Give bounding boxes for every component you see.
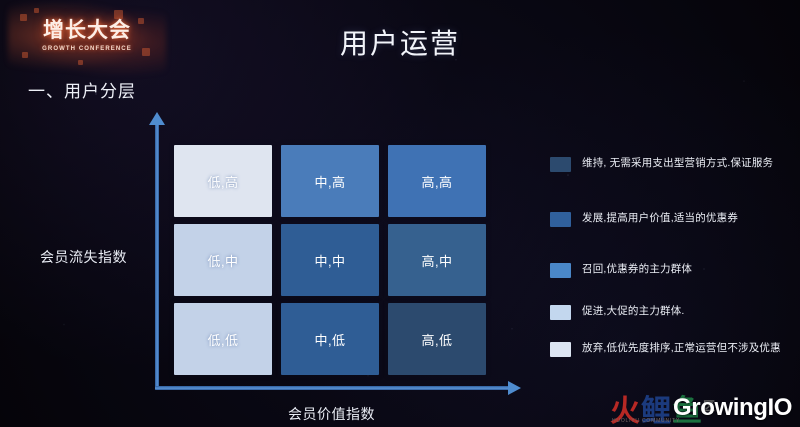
- watermark-group: 火鲤鱼区 HUOLIYU COMMUNITY GrowingIO: [610, 388, 800, 427]
- legend-item[interactable]: 召回,优惠券的主力群体: [550, 262, 790, 278]
- legend-label: 发展,提高用户价值,适当的优惠券: [582, 211, 782, 225]
- slide-canvas: 增长大会 GROWTH CONFERENCE 用户运营 一、用户分层 会员流失指…: [0, 0, 800, 427]
- legend-item[interactable]: 放弃,低优先度排序,正常运营但不涉及优惠: [550, 341, 790, 357]
- matrix-cell[interactable]: 中,中: [281, 224, 379, 296]
- x-axis-arrow-icon: [508, 381, 521, 395]
- matrix-cell[interactable]: 低,中: [174, 224, 272, 296]
- legend-label: 促进,大促的主力群体.: [582, 304, 782, 318]
- matrix-cell[interactable]: 低,低: [174, 303, 272, 375]
- y-axis-line: [155, 122, 159, 390]
- matrix-cell[interactable]: 中,高: [281, 145, 379, 217]
- legend-item[interactable]: 发展,提高用户价值,适当的优惠券: [550, 211, 790, 227]
- y-axis-arrow-icon: [149, 112, 165, 125]
- legend-swatch-icon: [550, 212, 571, 227]
- matrix-cell[interactable]: 低,高: [174, 145, 272, 217]
- legend-label: 维持, 无需采用支出型营销方式.保证服务: [582, 156, 782, 170]
- matrix-cell[interactable]: 高,高: [388, 145, 486, 217]
- matrix-grid: 低,高 中,高 高,高 低,中 中,中 高,中 低,低 中,低 高,低: [174, 145, 486, 375]
- legend-label: 召回,优惠券的主力群体: [582, 262, 782, 276]
- legend-swatch-icon: [550, 263, 571, 278]
- x-axis-label: 会员价值指数: [288, 404, 375, 424]
- legend-item[interactable]: 维持, 无需采用支出型营销方式.保证服务: [550, 156, 790, 172]
- legend-item[interactable]: 促进,大促的主力群体.: [550, 304, 790, 320]
- legend-label: 放弃,低优先度排序,正常运营但不涉及优惠: [582, 341, 782, 355]
- matrix-cell[interactable]: 中,低: [281, 303, 379, 375]
- legend-swatch-icon: [550, 305, 571, 320]
- y-axis-label: 会员流失指数: [40, 247, 127, 267]
- x-axis-line: [155, 386, 510, 390]
- legend-swatch-icon: [550, 157, 571, 172]
- growingio-watermark: GrowingIO: [673, 394, 792, 422]
- matrix-cell[interactable]: 高,中: [388, 224, 486, 296]
- matrix-cell[interactable]: 高,低: [388, 303, 486, 375]
- huoliyu-watermark-sub: HUOLIYU COMMUNITY: [612, 418, 680, 424]
- user-segmentation-matrix: 会员流失指数 会员价值指数 低,高 中,高 高,高 低,中 中,中 高,中 低,…: [0, 0, 560, 427]
- legend-swatch-icon: [550, 342, 571, 357]
